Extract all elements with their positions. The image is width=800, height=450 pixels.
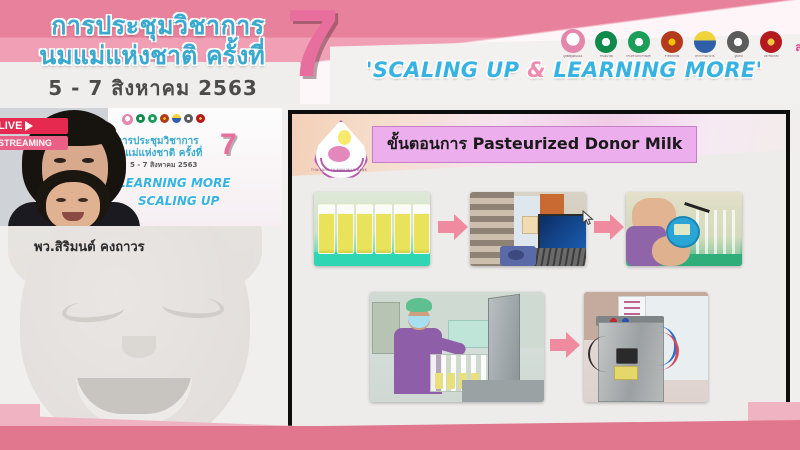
bottom-band [0, 426, 800, 450]
human-milk-bank-logo: THAILAND HUMAN MILK BANK [306, 118, 372, 180]
live-label: LIVE [0, 120, 22, 132]
collected-donor-milk-bottles-photo [314, 192, 430, 266]
conference-date-range: 5 - 7 สิงหาคม 2563 [20, 72, 286, 104]
nursing-council-logo: สภาการพยาบาล [692, 28, 718, 58]
step-arrow-2-icon [594, 214, 624, 240]
child-overlay-image [36, 170, 110, 226]
ministry-of-public-health-logo: กรมอนามัย [593, 28, 619, 58]
conference-tagline: 'SCALING UP & LEARNING MORE' [366, 58, 786, 82]
department-of-health-logo: กระทรวงสาธารณสุข [626, 28, 652, 58]
sponsor-logo-row: มูลนิธิศูนย์นมแม่ กรมอนามัย กระทรวงสาธาร… [560, 28, 800, 58]
thai-breastfeeding-foundation-logo: มูลนิธิศูนย์นมแม่ [560, 28, 586, 58]
conference-edition-number: 7 [286, 0, 339, 92]
streaming-label: STREAMING [0, 136, 68, 150]
milk-bank-logo-caption: THAILAND HUMAN MILK BANK [306, 168, 372, 172]
mouse-cursor-icon [582, 210, 594, 226]
thaihealth-sss-logo: สสส [791, 28, 800, 58]
backdrop-tagline-line2: SCALING UP [138, 194, 219, 208]
pasteurizer-machine-photo [584, 292, 708, 402]
live-streaming-badge: LIVE STREAMING [0, 118, 68, 150]
play-icon [25, 121, 33, 131]
tagline-pre-text: 'SCALING UP [366, 58, 527, 82]
temperature-probe-check-photo [626, 192, 742, 266]
screenshot-canvas: การประชุมวิชาการ นมแม่แห่งชาติ ครั้งที่ … [0, 0, 800, 450]
step-arrow-1-icon [438, 214, 468, 240]
live-video-inset[interactable]: การประชุมวิชาการ นมแม่แห่งชาติ ครั้งที่ … [0, 108, 282, 226]
tagline-post-text: LEARNING MORE' [546, 58, 763, 82]
data-recording-laptop-photo [470, 192, 586, 266]
royal-college-logo: ราชวิทยาลัย [659, 28, 685, 58]
milk-droplet-icon [338, 130, 351, 145]
slide-title: ขั้นตอนการ Pasteurized Donor Milk [372, 126, 697, 163]
live-badge-row: LIVE [0, 118, 68, 134]
speaker-name-caption: พว.สิริมนต์ คงถาวร [34, 236, 145, 257]
nurse-loading-pasteurizer-photo [370, 292, 544, 402]
backdrop-date: 5 - 7 สิงหาคม 2563 [130, 160, 197, 171]
step-arrow-3-icon [550, 332, 580, 358]
tagline-ampersand: & [527, 58, 546, 82]
university-emblem-logo: มหาวิทยาลัย [758, 28, 784, 58]
presentation-slide: THAILAND HUMAN MILK BANK ขั้นตอนการ Past… [288, 110, 790, 436]
unicef-thailand-logo: ยูนิเซฟ [725, 28, 751, 58]
watermark-nose [122, 336, 156, 358]
conference-title-line2: นมแม่แห่งชาติ ครั้งที่ [8, 36, 296, 76]
backdrop-edition-number: 7 [220, 130, 237, 160]
conference-banner: การประชุมวิชาการ นมแม่แห่งชาติ ครั้งที่ … [0, 0, 800, 104]
